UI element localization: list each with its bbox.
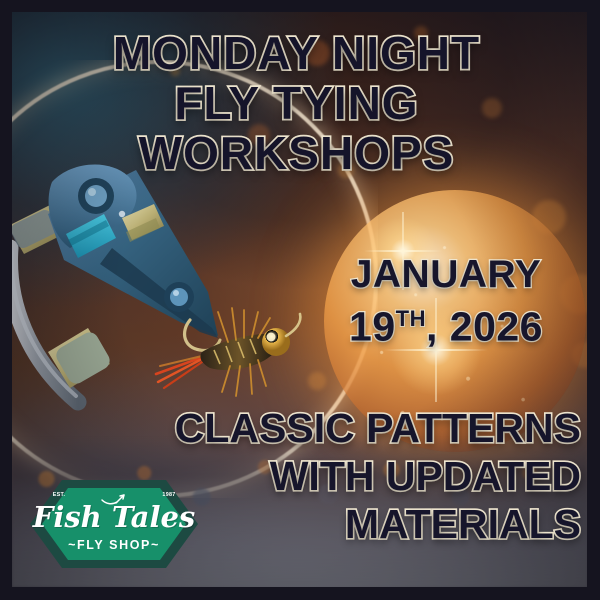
poster-canvas: MONDAY NIGHT FLY TYING WORKSHOPS JANUARY… bbox=[12, 12, 587, 587]
logo-subtitle: ~FLY SHOP~ bbox=[28, 538, 200, 552]
tagline-line-1: CLASSIC PATTERNS bbox=[92, 404, 581, 452]
date-day-year: 19TH, 2026 bbox=[312, 296, 580, 350]
date-year: 2026 bbox=[450, 304, 543, 350]
event-date-block: JANUARY 19TH, 2026 bbox=[312, 254, 580, 350]
date-comma: , bbox=[426, 304, 438, 350]
fish-tales-logo[interactable]: EST. 1987 Fish Tales ~FLY SHOP~ bbox=[28, 478, 200, 570]
date-month: JANUARY bbox=[312, 254, 580, 296]
poster-frame: MONDAY NIGHT FLY TYING WORKSHOPS JANUARY… bbox=[0, 0, 600, 600]
headline-line-1: MONDAY NIGHT bbox=[12, 28, 581, 78]
headline-line-3: WORKSHOPS bbox=[12, 128, 581, 178]
logo-name: Fish Tales bbox=[28, 500, 200, 534]
headline-line-2: FLY TYING bbox=[12, 78, 581, 128]
headline-block: MONDAY NIGHT FLY TYING WORKSHOPS bbox=[12, 28, 581, 178]
date-day: 19 bbox=[349, 304, 396, 350]
logo-est-label: EST. bbox=[46, 492, 72, 498]
date-day-suffix: TH bbox=[396, 306, 426, 331]
logo-est-year: 1987 bbox=[156, 492, 182, 498]
